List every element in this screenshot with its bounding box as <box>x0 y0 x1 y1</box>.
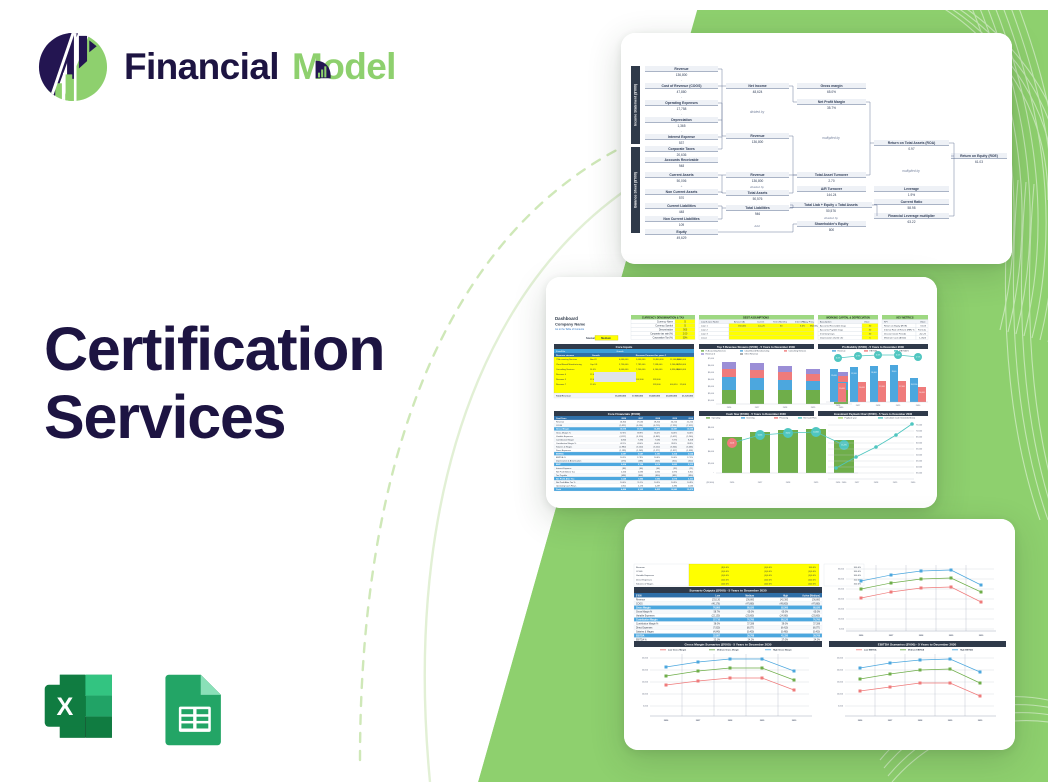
svg-text:8,000,000: 8,000,000 <box>619 369 629 371</box>
svg-text:Repay Freq.: Repay Freq. <box>802 321 814 324</box>
svg-text:10.9%: 10.9% <box>687 482 693 484</box>
svg-text:(66): (66) <box>639 468 643 470</box>
svg-text:Revenue: Revenue <box>636 599 646 601</box>
svg-text:Payback year: Payback year <box>845 418 857 420</box>
slide-canvas: Financial Model Certification Services <box>0 0 1048 782</box>
svg-text:(0)0.0%: (0)0.0% <box>808 575 816 577</box>
svg-text:Cash flow ($'000) - 5 Years to: Cash flow ($'000) - 5 Years to December … <box>726 412 786 416</box>
svg-text:41,330: 41,330 <box>781 634 789 637</box>
svg-text:14.0%: 14.0% <box>590 369 596 371</box>
brand-word-model-text: Model <box>292 46 396 87</box>
svg-text:70,000: 70,000 <box>916 431 923 433</box>
svg-text:5,040,000: 5,040,000 <box>636 359 646 361</box>
svg-text:Return on Equity (ROE): Return on Equity (ROE) <box>884 325 907 328</box>
svg-text:Year/Years: Year/Years <box>556 417 567 420</box>
svg-text:(0)0.0%: (0)0.0% <box>764 579 772 581</box>
svg-text:Currency Name: Currency Name <box>657 321 674 324</box>
svg-text:Income Statement ($'000): Income Statement ($'000) <box>634 84 638 126</box>
svg-text:50,576: 50,576 <box>753 197 763 201</box>
svg-text:1,885: 1,885 <box>638 478 644 480</box>
svg-text:45,000: 45,000 <box>916 461 923 463</box>
svg-text:30%: 30% <box>683 338 688 340</box>
dupont-tree-screenshot[interactable]: Income Statement ($'000) Balance Sheet (… <box>621 33 1012 264</box>
svg-text:17,000: 17,000 <box>879 386 885 388</box>
svg-text:20,636: 20,636 <box>677 153 687 157</box>
svg-text:Non-IR: Non-IR <box>590 359 597 361</box>
svg-text:1,901: 1,901 <box>621 486 627 488</box>
svg-text:'000: '000 <box>683 330 688 332</box>
svg-text:75,000: 75,000 <box>916 425 923 427</box>
svg-text:(46,176): (46,176) <box>712 603 721 605</box>
svg-text:divided by: divided by <box>750 110 765 114</box>
svg-text:35,000: 35,000 <box>838 569 845 571</box>
page-title-line-2: Services <box>44 383 384 451</box>
svg-text:39,1200: 39,1200 <box>911 384 918 386</box>
svg-text:(0)0.0%: (0)0.0% <box>764 575 772 577</box>
svg-text:15,000: 15,000 <box>837 682 844 684</box>
svg-text:30,000: 30,000 <box>838 579 845 581</box>
svg-text:High Gross Margin: High Gross Margin <box>773 649 792 652</box>
svg-text:4,404: 4,404 <box>730 443 735 445</box>
svg-text:(850): (850) <box>655 475 660 477</box>
svg-text:3,003: 3,003 <box>672 464 678 466</box>
svg-text:64.6%: 64.6% <box>687 432 693 434</box>
svg-text:3,301: 3,301 <box>688 471 694 473</box>
svg-text:Cloud Based Manufacturing: Cloud Based Manufacturing <box>556 363 582 366</box>
svg-text:$1,000: $1,000 <box>708 400 715 402</box>
svg-text:(2,980): (2,980) <box>620 446 627 448</box>
svg-text:5,750,000: 5,750,000 <box>619 364 629 366</box>
svg-text:10,842: 10,842 <box>813 432 819 434</box>
svg-text:3,312: 3,312 <box>688 464 694 466</box>
svg-text:37,288: 37,288 <box>813 623 821 625</box>
svg-text:Monthly: Monthly <box>810 325 819 328</box>
svg-text:EBIT: EBIT <box>556 464 561 466</box>
svg-text:(1,199): (1,199) <box>620 450 627 452</box>
svg-text:Value: Value <box>920 322 926 324</box>
svg-text:15,000: 15,000 <box>642 682 649 684</box>
svg-text:Formula: Formula <box>918 329 927 332</box>
svg-text:(0)0.0%: (0)0.0% <box>764 584 772 586</box>
svg-text:47,880: 47,880 <box>677 90 687 94</box>
svg-text:88,920: 88,920 <box>747 607 755 609</box>
svg-text:(3,100): (3,100) <box>637 446 644 448</box>
svg-text:Financing: Financing <box>780 418 789 420</box>
svg-text:2,414: 2,414 <box>621 463 627 466</box>
svg-text:(5,012): (5,012) <box>671 436 678 438</box>
svg-text:4,160,000: 4,160,000 <box>653 369 663 371</box>
svg-text:(4,840): (4,840) <box>713 631 720 633</box>
svg-text:Variable Expenses: Variable Expenses <box>636 574 655 577</box>
svg-text:Gross Margin Scenarios ($'000): Gross Margin Scenarios ($'000) - 5 Years… <box>684 642 771 646</box>
svg-text:Gross Margin: Gross Margin <box>636 606 651 609</box>
svg-text:Gross Margin: Gross Margin <box>556 428 570 431</box>
svg-text:(6,715): (6,715) <box>654 425 661 427</box>
svg-text:14,000: 14,000 <box>919 392 925 394</box>
svg-text:+: + <box>681 184 683 188</box>
svg-text:20,000: 20,000 <box>838 599 845 601</box>
svg-text:Revenue: Revenue <box>636 567 646 569</box>
svg-text:(8,077): (8,077) <box>813 627 820 629</box>
svg-text:Loan/Lease Name: Loan/Lease Name <box>701 322 720 324</box>
svg-text:400,010: 400,010 <box>670 384 678 386</box>
svg-text:(5,480): (5,480) <box>781 631 788 633</box>
svg-text:8,452: 8,452 <box>655 488 661 491</box>
svg-text:3,634: 3,634 <box>688 453 694 456</box>
svg-text:1,628: 1,628 <box>621 478 627 480</box>
svg-text:(4,510): (4,510) <box>637 436 644 438</box>
svg-text:multiplied by: multiplied by <box>822 136 840 140</box>
svg-text:(3,222): (3,222) <box>654 446 661 448</box>
svg-text:39,768: 39,768 <box>747 635 755 637</box>
brand-word-financial: Financial <box>124 46 279 88</box>
svg-text:2.00: 2.00 <box>683 334 688 336</box>
svg-text:Top 5 Revenue Streams ($'000): Top 5 Revenue Streams ($'000) - 5 Years … <box>717 345 795 349</box>
svg-text:Net Profit After Tax: Net Profit After Tax <box>556 477 575 480</box>
svg-text:Operating Cash Flows: Operating Cash Flows <box>556 485 576 488</box>
svg-text:100.0%: 100.0% <box>854 575 861 577</box>
svg-text:Direct Expenses: Direct Expenses <box>636 578 653 581</box>
svg-text:5,000: 5,000 <box>643 706 649 708</box>
svg-text:(49,800): (49,800) <box>780 603 789 605</box>
svg-text:divided by: divided by <box>824 216 838 220</box>
svg-text:Gross Margin %: Gross Margin % <box>556 431 571 434</box>
svg-text:(322): (322) <box>688 461 693 463</box>
svg-text:(0)0.0%: (0)0.0% <box>808 579 816 581</box>
svg-text:(88): (88) <box>622 468 626 470</box>
svg-text:(23,860): (23,860) <box>746 615 755 617</box>
svg-text:$7,000: $7,000 <box>708 358 715 360</box>
svg-text:Current Ratio: Current Ratio <box>901 200 923 204</box>
svg-text:Consulting Services: Consulting Services <box>789 350 807 353</box>
brand-word-model: Model <box>292 46 396 88</box>
svg-text:(808): (808) <box>638 475 643 477</box>
svg-text:Assumption: Assumption <box>820 321 832 324</box>
svg-text:(698): (698) <box>621 475 626 477</box>
svg-text:16.4%: 16.4% <box>896 355 901 357</box>
svg-text:50,006: 50,006 <box>677 179 687 183</box>
svg-text:6,165: 6,165 <box>638 489 644 491</box>
svg-text:4,404: 4,404 <box>621 488 627 491</box>
svg-text:16.6%: 16.6% <box>876 355 881 357</box>
svg-text:8,452: 8,452 <box>786 433 791 435</box>
svg-text:2.70: 2.70 <box>828 179 834 183</box>
svg-text:2,687: 2,687 <box>621 454 627 456</box>
svg-text:50,576: 50,576 <box>826 209 836 213</box>
svg-text:65.0%: 65.0% <box>782 611 788 613</box>
svg-text:Low Gross Margin: Low Gross Margin <box>668 649 687 652</box>
svg-text:Minimum Cash ($'000): Minimum Cash ($'000) <box>884 338 906 340</box>
svg-text:16,200,000: 16,200,000 <box>615 396 627 398</box>
svg-text:2,311: 2,311 <box>688 478 694 480</box>
svg-text:(4,805): (4,805) <box>654 436 661 438</box>
svg-text:17,500: 17,500 <box>899 386 905 388</box>
svg-text:10,800,000: 10,800,000 <box>653 359 664 361</box>
svg-text:57,710: 57,710 <box>713 619 721 621</box>
svg-text:Cumulative Cash Invested (Gros: Cumulative Cash Invested (Gross) <box>885 417 916 420</box>
svg-text:20,000: 20,000 <box>642 670 649 672</box>
svg-text:25,000: 25,000 <box>838 589 845 591</box>
svg-text:$3,000: $3,000 <box>708 386 715 388</box>
svg-text:65.0%: 65.0% <box>748 611 754 613</box>
svg-text:(22,130): (22,130) <box>712 615 721 617</box>
svg-text:60,000: 60,000 <box>916 443 923 445</box>
svg-text:A/R Turnover: A/R Turnover <box>821 187 843 191</box>
svg-text:Variable Expenses: Variable Expenses <box>556 435 573 438</box>
svg-text:Corporation Tax (%): Corporation Tax (%) <box>653 337 674 340</box>
svg-text:17.1%: 17.1% <box>687 457 693 459</box>
svg-text:Current Assets: Current Assets <box>669 173 693 177</box>
svg-text:65,000: 65,000 <box>916 437 923 439</box>
svg-text:Contribution Margin: Contribution Margin <box>636 618 658 621</box>
svg-text:13,475: 13,475 <box>841 445 847 447</box>
svg-text:1.9%: 1.9% <box>908 193 915 197</box>
svg-text:Accounts Payable Days: Accounts Payable Days <box>820 329 844 332</box>
svg-text:(5,322): (5,322) <box>620 425 627 427</box>
dashboard-sheet: Dashboard Company Name Go to the Table o… <box>546 277 937 508</box>
svg-text:35,000: 35,000 <box>831 375 837 377</box>
svg-text:Net Income: Net Income <box>748 84 766 88</box>
svg-text:(273): (273) <box>621 461 626 463</box>
svg-text:EBITDA Scenarios ($'000) - 5 Y: EBITDA Scenarios ($'000) - 5 Years to De… <box>878 642 957 646</box>
svg-text:1,0524: 1,0524 <box>919 338 926 340</box>
svg-text:Shareholder's Equity: Shareholder's Equity <box>815 222 849 226</box>
svg-text:946: 946 <box>755 212 761 216</box>
svg-text:multiplied by: multiplied by <box>902 169 920 173</box>
svg-text:(0)0.0%: (0)0.0% <box>808 584 816 586</box>
brand-wordmark: Financial Model <box>124 46 396 88</box>
svg-text:(5,400): (5,400) <box>813 631 820 633</box>
svg-text:17,040: 17,040 <box>637 422 644 424</box>
svg-text:19,200: 19,200 <box>654 422 661 424</box>
svg-text:Gross Margin %: Gross Margin % <box>636 610 652 613</box>
svg-text:(5,400): (5,400) <box>747 631 754 633</box>
svg-text:High: High <box>783 595 789 597</box>
svg-text:Contribution Margin %: Contribution Margin % <box>556 442 576 445</box>
svg-text:80,120: 80,120 <box>781 619 789 621</box>
svg-text:Total Revenue: Total Revenue <box>556 395 572 398</box>
svg-text:(1,317): (1,317) <box>671 450 678 452</box>
svg-text:Go to the Table of Contents: Go to the Table of Contents <box>555 328 585 331</box>
svg-text:2,876: 2,876 <box>655 464 661 466</box>
supported-apps: X <box>38 663 236 757</box>
svg-text:Financial Leverage multiplier: Financial Leverage multiplier <box>888 214 935 218</box>
svg-text:2,326: 2,326 <box>621 471 627 473</box>
svg-text:25,000: 25,000 <box>642 658 649 660</box>
svg-text:5,000: 5,000 <box>839 629 845 631</box>
svg-text:Revenue: Revenue <box>750 173 764 177</box>
svg-text:Return on Total Assets (ROA): Return on Total Assets (ROA) <box>888 141 935 145</box>
microsoft-excel-icon[interactable]: X <box>38 663 122 757</box>
svg-text:109: 109 <box>679 223 685 227</box>
svg-text:20,210: 20,210 <box>671 422 678 424</box>
svg-text:Currency Symbol: Currency Symbol <box>655 325 673 328</box>
svg-text:(0)0.0%: (0)0.0% <box>808 571 816 573</box>
svg-text:102,000: 102,000 <box>636 379 644 381</box>
svg-text:(0)0.0%: (0)0.0% <box>721 575 729 577</box>
svg-text:65.0%: 65.0% <box>814 611 820 613</box>
svg-text:Equity: Equity <box>676 230 686 234</box>
svg-text:Cloud Based Manufacturing: Cloud Based Manufacturing <box>745 350 770 353</box>
svg-text:10,842: 10,842 <box>671 488 678 491</box>
svg-text:(47,880): (47,880) <box>812 603 821 605</box>
svg-text:Corporate Taxes: Corporate Taxes <box>668 147 695 151</box>
svg-text:Operating Expenses: Operating Expenses <box>665 101 698 105</box>
svg-text:Denomination: Denomination <box>659 329 674 332</box>
svg-text:Operating: Operating <box>712 417 721 420</box>
svg-text:Revenue: Revenue <box>750 134 764 138</box>
svg-text:16,300: 16,300 <box>620 422 627 424</box>
svg-text:43.4%: 43.4% <box>637 443 643 445</box>
svg-text:12,000: 12,000 <box>680 384 687 386</box>
svg-text:Net Cash Flow: Net Cash Flow <box>804 417 818 420</box>
svg-text:(1,358): (1,358) <box>687 450 694 452</box>
svg-text:Term (Months): Term (Months) <box>773 321 787 324</box>
svg-text:69.9%: 69.9% <box>637 432 643 434</box>
svg-text:Salaries & Wages: Salaries & Wages <box>636 583 654 586</box>
svg-text:20,200,000: 20,200,000 <box>666 396 678 398</box>
svg-text:(990): (990) <box>688 475 693 477</box>
svg-text:Revenue streams: Revenue streams <box>556 354 575 357</box>
scenario-screenshot[interactable]: Revenue COGS Variable Expenses Direct Ex… <box>624 519 1015 750</box>
svg-text:35,000: 35,000 <box>916 473 923 475</box>
svg-text:Revenue: Revenue <box>838 351 847 353</box>
svg-text:EBITDA %: EBITDA % <box>900 350 910 353</box>
svg-text:(5,240): (5,240) <box>687 436 694 438</box>
svg-text:2,287: 2,287 <box>655 486 661 488</box>
svg-text:DEBT ASSUMPTIONS: DEBT ASSUMPTIONS <box>743 316 769 319</box>
svg-text:Corporate tax rate (%): Corporate tax rate (%) <box>650 333 673 336</box>
scenario-sheet: Revenue COGS Variable Expenses Direct Ex… <box>624 519 1015 750</box>
svg-text:COGS: COGS <box>636 603 643 605</box>
svg-text:39.0%: 39.0% <box>782 623 788 625</box>
svg-text:$6,000: $6,000 <box>708 365 715 367</box>
svg-text:(7,512): (7,512) <box>687 425 694 427</box>
svg-text:Loan 3: Loan 3 <box>701 334 708 336</box>
svg-text:Current: Current <box>757 321 765 324</box>
svg-text:Active (Medium): Active (Medium) <box>802 594 820 597</box>
svg-text:17.9%: 17.9% <box>856 356 861 358</box>
svg-text:COGS: COGS <box>636 571 643 573</box>
svg-text:$8,000: $8,000 <box>708 427 715 429</box>
svg-text:11.1%: 11.1% <box>637 482 643 484</box>
svg-text:63.22: 63.22 <box>908 220 916 224</box>
svg-text:(7,223): (7,223) <box>671 425 678 427</box>
dashboard-screenshot[interactable]: Dashboard Company Name Go to the Table o… <box>546 277 937 508</box>
svg-text:(3,344): (3,344) <box>671 446 678 448</box>
svg-text:10.3%: 10.3% <box>671 482 677 484</box>
svg-text:KEY METRICS: KEY METRICS <box>896 316 913 319</box>
svg-text:(0)0.0%: (0)0.0% <box>764 567 772 569</box>
svg-text:X: X <box>56 693 73 721</box>
svg-text:Discount (Late Period): Discount (Late Period) <box>884 333 906 336</box>
svg-text:Cash: Cash <box>556 489 562 491</box>
financial-model-circle-mark <box>36 30 110 104</box>
svg-text:100.0%: 100.0% <box>854 567 861 569</box>
svg-text:EBITDA %: EBITDA % <box>556 456 566 459</box>
svg-text:37,288: 37,288 <box>747 623 755 625</box>
svg-text:100.0%: 100.0% <box>854 571 861 573</box>
svg-text:15,000: 15,000 <box>839 388 845 390</box>
svg-text:Interest Expense: Interest Expense <box>556 467 572 470</box>
svg-text:1,365: 1,365 <box>678 124 686 128</box>
svg-text:Add: Add <box>753 224 760 228</box>
svg-text:Total Asset Turnover: Total Asset Turnover <box>815 173 849 177</box>
svg-text:528,000: 528,000 <box>653 379 661 381</box>
svg-text:Direct Expenses: Direct Expenses <box>636 626 653 629</box>
svg-text:Profitability ($'000) - 5 Year: Profitability ($'000) - 5 Years to Decem… <box>842 345 904 349</box>
svg-text:Contribution Margin %: Contribution Margin % <box>636 622 658 625</box>
svg-text:Net Profit Margin: Net Profit Margin <box>818 100 845 104</box>
svg-text:6,165: 6,165 <box>758 435 763 437</box>
svg-text:12.0%: 12.0% <box>590 384 596 386</box>
svg-text:Net Profit After Tax %: Net Profit After Tax % <box>556 481 576 484</box>
brand-logo[interactable]: Financial Model <box>36 30 396 104</box>
svg-text:537: 537 <box>679 141 685 145</box>
svg-text:7,680: 7,680 <box>655 439 661 441</box>
svg-text:3,314: 3,314 <box>672 453 678 456</box>
svg-text:IT Accounting Services: IT Accounting Services <box>706 350 726 353</box>
svg-text:Core Financials ($'000): Core Financials ($'000) <box>608 412 641 416</box>
svg-text:-: - <box>681 95 682 99</box>
svg-text:2,832: 2,832 <box>655 471 661 473</box>
svg-text:150,000: 150,000 <box>738 326 747 328</box>
svg-text:Jan-25: Jan-25 <box>758 326 765 328</box>
svg-text:7,598,000: 7,598,000 <box>653 364 663 366</box>
svg-text:2,079: 2,079 <box>672 478 678 480</box>
svg-text:2,759: 2,759 <box>638 464 644 466</box>
svg-text:2,173: 2,173 <box>638 486 644 488</box>
svg-text:Balance Sheet ($'000): Balance Sheet ($'000) <box>634 172 638 208</box>
svg-text:8,000,000: 8,000,000 <box>677 359 687 361</box>
svg-text:Accounts Receivable Days: Accounts Receivable Days <box>820 325 847 328</box>
svg-text:16.5%: 16.5% <box>836 358 841 360</box>
svg-text:2,970: 2,970 <box>672 471 678 473</box>
svg-text:4,000,000: 4,000,000 <box>619 359 629 361</box>
svg-text:Total Assets: Total Assets <box>748 191 768 195</box>
svg-text:Total Liab + Equity = Total As: Total Liab + Equity = Total Assets <box>804 203 858 207</box>
svg-text:(0)0.0%: (0)0.0% <box>721 579 729 581</box>
svg-text:Core Inputs: Core Inputs <box>616 345 633 349</box>
svg-text:100.0%: 100.0% <box>809 567 816 569</box>
google-sheets-icon[interactable] <box>152 663 236 757</box>
svg-text:0.97: 0.97 <box>908 147 914 151</box>
svg-text:Dashboard: Dashboard <box>555 316 578 321</box>
svg-text:Investment Payback Chart ($'00: Investment Payback Chart ($'000) - 5 Yea… <box>834 412 913 416</box>
svg-text:Lease: Lease <box>701 338 708 340</box>
svg-text:17,758: 17,758 <box>677 107 687 111</box>
svg-text:Tax Payable: Tax Payable <box>556 475 568 477</box>
svg-text:Revenue: Revenue <box>674 67 688 71</box>
svg-text:$2,000: $2,000 <box>708 393 715 395</box>
svg-text:58.7%: 58.7% <box>714 611 720 613</box>
svg-text:Revenue 7: Revenue 7 <box>556 384 567 386</box>
svg-text:10,000: 10,000 <box>642 694 649 696</box>
svg-text:39.9%: 39.9% <box>687 443 693 445</box>
svg-text:7,975: 7,975 <box>672 439 678 441</box>
svg-text:528,000: 528,000 <box>653 384 661 386</box>
svg-text:Accounts Receivable: Accounts Receivable <box>664 158 698 162</box>
page-title-line-1: Certification <box>44 315 384 383</box>
svg-text:EBITDA: EBITDA <box>556 453 564 456</box>
svg-text:(11): (11) <box>690 468 694 470</box>
svg-text:21,120,000: 21,120,000 <box>682 396 694 398</box>
svg-text:100.0%: 100.0% <box>854 584 861 586</box>
svg-text:39,768: 39,768 <box>813 635 821 637</box>
model-o-bars-icon <box>314 59 333 80</box>
svg-text:Net Profit Before Tax: Net Profit Before Tax <box>556 470 575 473</box>
svg-text:65.0%: 65.0% <box>827 90 836 94</box>
